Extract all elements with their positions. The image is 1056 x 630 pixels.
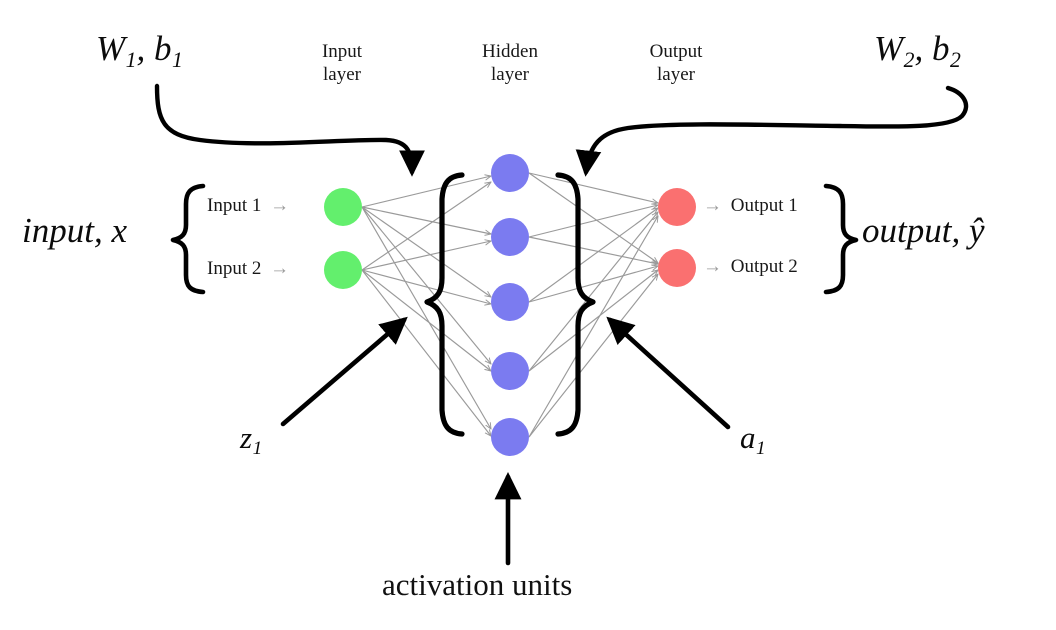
input-group-label: input, x xyxy=(22,212,127,250)
input-node-label-1: Input 1 → xyxy=(207,196,289,217)
weight-label-first-W-sub: 1 xyxy=(125,48,136,72)
output-layer-nodes xyxy=(658,188,696,287)
activation-units-caption: activation units xyxy=(382,568,572,601)
hidden-layer-nodes xyxy=(491,154,529,456)
input-layer-nodes xyxy=(324,188,362,289)
w2-pointer-arrow xyxy=(586,88,966,172)
input-node-1 xyxy=(324,188,362,226)
weight-label-first: W1, b1 xyxy=(96,30,183,72)
a1-annotation-sub: 1 xyxy=(756,438,766,459)
hidden-layer-caption: Hidden layer xyxy=(465,40,555,86)
weight-label-second-b: b xyxy=(932,29,950,68)
z1-pointer-arrow xyxy=(283,320,404,424)
weight-label-second: W2, b2 xyxy=(874,30,961,72)
output-node-label-1-text: Output 1 xyxy=(731,195,798,216)
output-node-arrow-1-icon: → xyxy=(703,195,726,216)
weight-label-first-W: W xyxy=(96,29,125,68)
neural-network-diagram: W1, b1 W2, b2 Input layer Hidden layer O… xyxy=(0,0,1056,630)
output-node-arrow-2-icon: → xyxy=(703,256,726,277)
output-group-label-text: output, xyxy=(862,211,969,250)
weight-label-first-b-sub: 1 xyxy=(172,48,183,72)
weight-label-second-sep: , xyxy=(915,29,933,68)
edges-hidden-to-output xyxy=(529,173,658,437)
weight-label-second-b-sub: 2 xyxy=(950,48,961,72)
output-node-label-1: → Output 1 xyxy=(703,196,798,217)
a1-annotation-base: a xyxy=(740,420,756,455)
hidden-node-1 xyxy=(491,154,529,192)
input-node-label-2: Input 2 → xyxy=(207,259,289,280)
input-layer-caption: Input layer xyxy=(297,40,387,86)
z1-annotation-base: z xyxy=(240,420,252,455)
input-node-label-2-text: Input 2 xyxy=(207,258,261,279)
output-node-label-2-text: Output 2 xyxy=(731,256,798,277)
output-group-label-hat: ŷ xyxy=(969,211,985,250)
hidden-node-2 xyxy=(491,218,529,256)
output-group-label: output, ŷ xyxy=(862,212,985,250)
weight-label-first-b: b xyxy=(154,29,172,68)
z1-annotation-sub: 1 xyxy=(252,438,262,459)
input-node-2 xyxy=(324,251,362,289)
w1-pointer-arrow xyxy=(157,86,412,172)
weight-label-second-W-sub: 2 xyxy=(903,48,914,72)
input-group-brace xyxy=(173,186,203,292)
output-node-2 xyxy=(658,249,696,287)
output-node-1 xyxy=(658,188,696,226)
input-node-arrow-2-icon: → xyxy=(266,258,289,279)
weight-label-first-sep: , xyxy=(137,29,155,68)
weight-label-second-W: W xyxy=(874,29,903,68)
output-layer-caption: Output layer xyxy=(631,40,721,86)
hidden-node-3 xyxy=(491,283,529,321)
a1-pointer-arrow xyxy=(610,320,728,427)
input-node-label-1-text: Input 1 xyxy=(207,195,261,216)
z1-annotation-label: z1 xyxy=(240,421,262,460)
hidden-node-5 xyxy=(491,418,529,456)
edges-input-to-hidden xyxy=(362,176,491,436)
input-node-arrow-1-icon: → xyxy=(266,195,289,216)
hidden-layer-left-brace xyxy=(427,175,462,434)
output-group-brace xyxy=(826,186,856,292)
output-node-label-2: → Output 2 xyxy=(703,257,798,278)
a1-annotation-label: a1 xyxy=(740,421,766,460)
hidden-node-4 xyxy=(491,352,529,390)
diagram-canvas xyxy=(0,0,1056,630)
